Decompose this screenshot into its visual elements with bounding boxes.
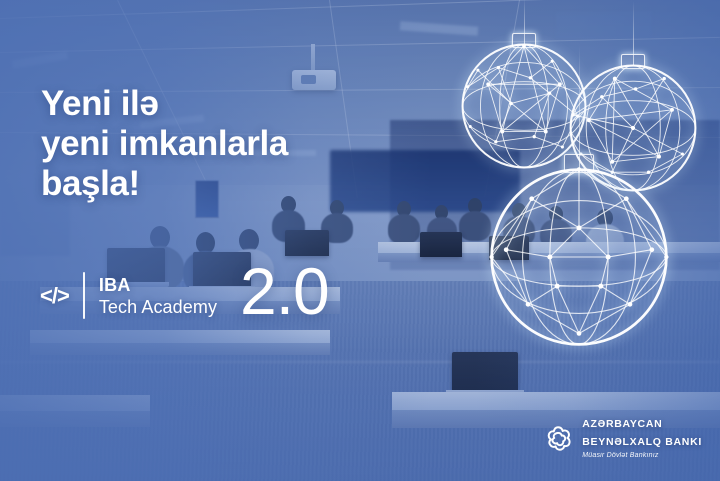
- bank-name-line-2: BEYNƏLXALQ BANKI: [582, 436, 702, 448]
- brand-name-line-1: IBA: [99, 275, 131, 295]
- bank-logo: AZƏRBAYCAN BEYNƏLXALQ BANKI Müasir Dövlə…: [543, 414, 702, 461]
- bank-name-line-1: AZƏRBAYCAN: [582, 418, 662, 430]
- brand-name-line-2: Tech Academy: [99, 297, 217, 317]
- headline-line-3: başla!: [41, 164, 288, 204]
- headline: Yeni ilə yeni imkanlarla başla!: [41, 84, 288, 204]
- version-label: 2.0: [240, 258, 329, 324]
- brand-divider: [83, 272, 85, 319]
- headline-line-1: Yeni ilə: [41, 84, 288, 124]
- code-brackets-icon: </>: [40, 285, 69, 307]
- brand-name: IBA Tech Academy: [99, 274, 217, 318]
- headline-line-2: yeni imkanlarla: [41, 124, 288, 164]
- bank-name: AZƏRBAYCAN BEYNƏLXALQ BANKI: [582, 418, 702, 448]
- promo-banner: Yeni ilə yeni imkanlarla başla! </> IBA …: [0, 0, 720, 481]
- banner-content: Yeni ilə yeni imkanlarla başla! </> IBA …: [0, 0, 720, 481]
- bank-tagline: Müasir Dövlət Bankınız: [582, 451, 702, 461]
- brand-lockup: </> IBA Tech Academy: [40, 272, 217, 319]
- bank-logo-text: AZƏRBAYCAN BEYNƏLXALQ BANKI Müasir Dövlə…: [582, 414, 702, 461]
- eight-point-star-rosette-icon: [543, 423, 573, 453]
